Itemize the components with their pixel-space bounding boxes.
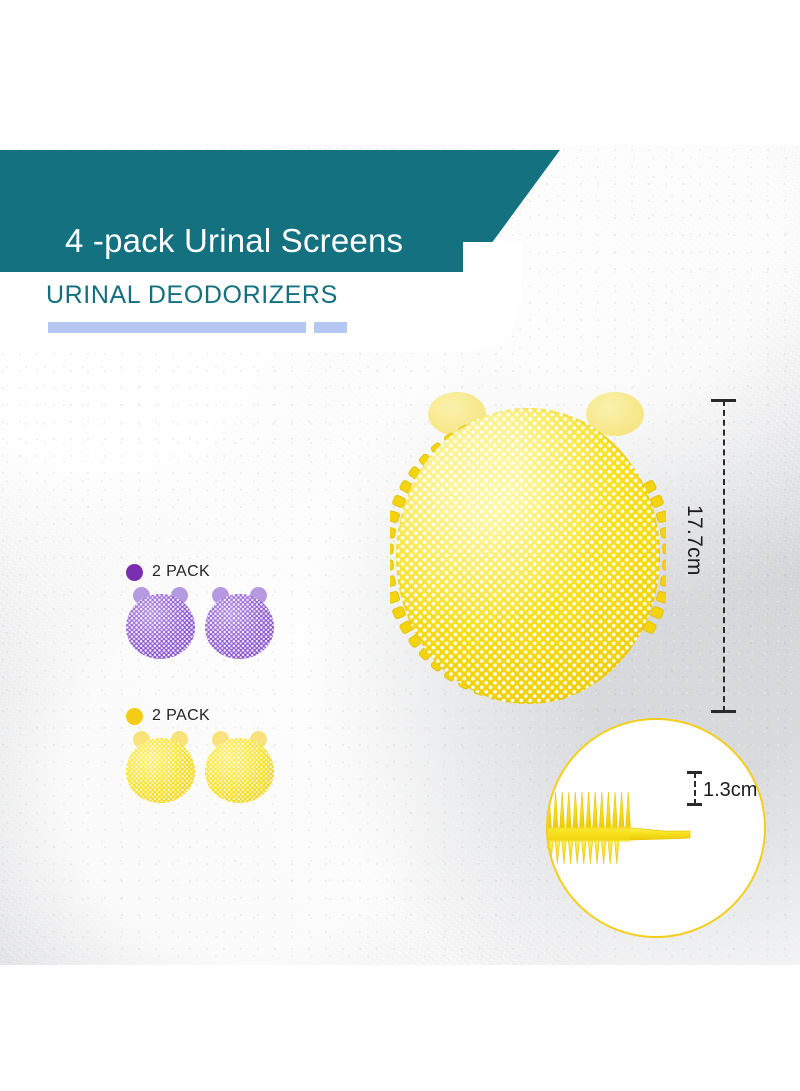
urinal-screen-yellow-2: [205, 734, 274, 803]
pack-label-yellow: 2 PACK: [126, 707, 274, 725]
screen-mesh-pattern: [126, 594, 195, 659]
dimension-diameter-label: 17.7cm: [682, 505, 706, 576]
product-image-canvas: 4 -pack Urinal Screens URINAL DEODORIZER…: [0, 0, 800, 1091]
screen-body: [205, 738, 274, 803]
accent-rule-short: [314, 322, 347, 333]
screen-body: [126, 594, 195, 659]
pack-group-yellow: 2 PACK: [126, 707, 274, 803]
screen-gloss-highlight: [396, 408, 660, 704]
screen-body: [126, 738, 195, 803]
page-subtitle: URINAL DEODORIZERS: [46, 281, 338, 310]
dimension-line-vertical: [723, 400, 725, 712]
urinal-screen-purple-1: [126, 590, 195, 659]
dimension-line-thickness: [694, 772, 696, 805]
purple-dot-icon: [126, 564, 143, 581]
pack-count-label: 2 PACK: [152, 707, 210, 725]
screen-mesh-pattern: [205, 738, 274, 803]
dimension-thickness-label: 1.3cm: [703, 779, 757, 802]
detail-inset-circle: [546, 718, 766, 938]
pack-label-purple: 2 PACK: [126, 563, 274, 581]
thickness-cap-bottom: [687, 803, 702, 806]
screen-mesh-pattern: [205, 594, 274, 659]
urinal-screen-main: [378, 392, 678, 722]
screen-body-main: [396, 408, 660, 704]
dimension-cap-bottom: [711, 710, 736, 713]
yellow-dot-icon: [126, 708, 143, 725]
pack-group-purple: 2 PACK: [126, 563, 274, 659]
pack-count-label: 2 PACK: [152, 563, 210, 581]
pack-row-yellow: [126, 734, 274, 803]
urinal-screen-purple-2: [205, 590, 274, 659]
accent-rule-long: [48, 322, 306, 333]
urinal-screen-yellow-1: [126, 734, 195, 803]
screen-mesh-pattern: [126, 738, 195, 803]
pack-row-purple: [126, 590, 274, 659]
screen-body: [205, 594, 274, 659]
